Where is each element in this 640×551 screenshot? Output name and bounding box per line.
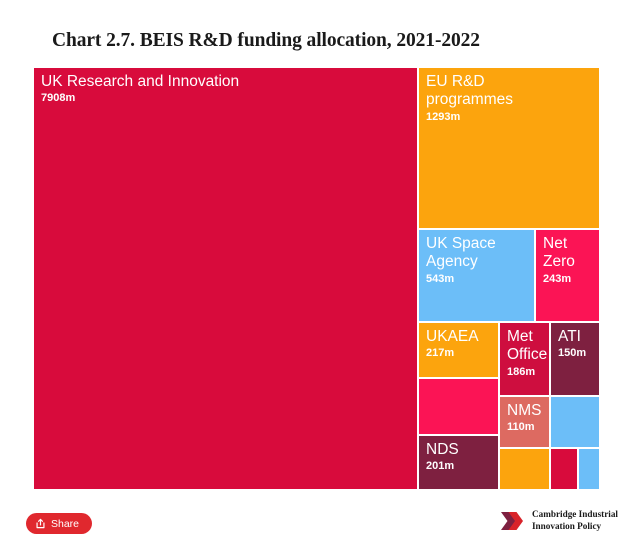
treemap-cell-value: 543m (426, 273, 531, 287)
chevron-logo-icon (499, 508, 525, 534)
cell-content: EU R&D programmes 1293m (426, 73, 596, 124)
treemap-cell-label: EU R&D programmes (426, 73, 596, 110)
treemap-cell-value: 110m (507, 421, 546, 435)
treemap-cell-value: 243m (543, 273, 596, 287)
treemap-cell-value: 217m (426, 347, 495, 361)
cell-content: UKAEA 217m (426, 328, 495, 361)
treemap-cell-label: UKAEA (426, 328, 495, 346)
share-button-label: Share (51, 518, 79, 530)
treemap-chart: UK Research and Innovation 7908m EU R&D … (33, 67, 600, 490)
cell-content: Net Zero 243m (543, 235, 596, 286)
treemap-cell-ukaea[interactable]: UKAEA 217m (418, 322, 499, 378)
brand-logo-text: Cambridge Industrial Innovation Policy (532, 509, 618, 533)
treemap-cell-value: 7908m (41, 92, 414, 106)
chart-page: Chart 2.7. BEIS R&D funding allocation, … (0, 0, 640, 551)
treemap-cell-label: Net Zero (543, 235, 596, 272)
share-export-icon (35, 518, 46, 529)
cell-content: ATI 150m (558, 328, 596, 361)
treemap-cell-nds[interactable]: NDS 201m (418, 435, 499, 490)
treemap-cell-unlabeled-orange[interactable] (499, 448, 550, 490)
treemap-cell-ati[interactable]: ATI 150m (550, 322, 600, 396)
page-title: Chart 2.7. BEIS R&D funding allocation, … (52, 30, 612, 52)
cell-content: UK Research and Innovation 7908m (41, 73, 414, 106)
cell-content: UK Space Agency 543m (426, 235, 531, 286)
treemap-cell-label: NMS (507, 402, 546, 420)
brand-logo: Cambridge Industrial Innovation Policy (499, 508, 618, 534)
cell-content: Met Office 186m (507, 328, 546, 379)
treemap-cell-value: 150m (558, 347, 596, 361)
treemap-cell-unlabeled-blue-upper[interactable] (550, 396, 600, 448)
cell-content: NDS 201m (426, 441, 495, 474)
share-button[interactable]: Share (26, 513, 92, 534)
treemap-cell-net-zero[interactable]: Net Zero 243m (535, 229, 600, 322)
treemap-cell-met-office[interactable]: Met Office 186m (499, 322, 550, 396)
treemap-cell-unlabeled-blue-lower[interactable] (578, 448, 600, 490)
treemap-cell-value: 186m (507, 366, 546, 380)
treemap-cell-value: 1293m (426, 111, 596, 125)
treemap-cell-label: ATI (558, 328, 596, 346)
treemap-cell-unlabeled-crimson[interactable] (550, 448, 578, 490)
treemap-cell-eu-rd-programmes[interactable]: EU R&D programmes 1293m (418, 67, 600, 229)
treemap-cell-label: UK Research and Innovation (41, 73, 414, 91)
cell-content: NMS 110m (507, 402, 546, 435)
treemap-cell-label: Met Office (507, 328, 546, 365)
treemap-cell-uk-space-agency[interactable]: UK Space Agency 543m (418, 229, 535, 322)
treemap-cell-value: 201m (426, 460, 495, 474)
treemap-cell-label: UK Space Agency (426, 235, 531, 272)
treemap-cell-label: NDS (426, 441, 495, 459)
treemap-cell-nms[interactable]: NMS 110m (499, 396, 550, 448)
treemap-cell-unlabeled-pink[interactable] (418, 378, 499, 435)
treemap-cell-uk-research-and-innovation[interactable]: UK Research and Innovation 7908m (33, 67, 418, 490)
